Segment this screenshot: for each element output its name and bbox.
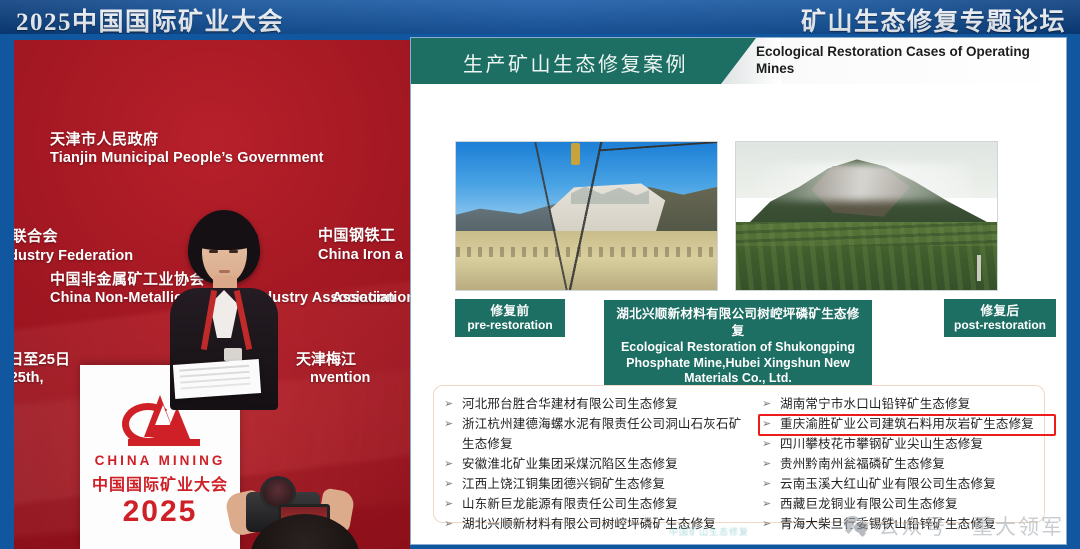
bullet-arrow-icon: ➢ [444, 395, 455, 415]
case-list-item-label: 河北邢台胜合华建材有限公司生态修复 [462, 395, 742, 415]
bullet-arrow-icon: ➢ [444, 455, 455, 475]
case-list-item-label: 云南玉溪大红山矿业有限公司生态修复 [780, 475, 1040, 495]
bullet-arrow-icon: ➢ [444, 475, 455, 495]
bullet-arrow-icon: ➢ [444, 515, 455, 535]
case-list-item-label: 重庆渝胜矿业公司建筑石料用灰岩矿生态修复 [780, 415, 1040, 435]
case-title-en-2: Phosphate Mine,Hubei Xingshun New [612, 356, 864, 372]
case-list-item[interactable]: ➢湖南常宁市水口山铅锌矿生态修复 [762, 395, 1040, 415]
case-list-item[interactable]: ➢山东新巨龙能源有限责任公司生态修复 [444, 495, 742, 515]
caption-post-cn: 修复后 [954, 304, 1046, 318]
backdrop-org4-cn: 中国钢铁工 [318, 224, 396, 245]
logo-text-english: CHINA MINING [80, 453, 240, 468]
case-list-item-label: 江西上饶江铜集团德兴铜矿生态修复 [462, 475, 742, 495]
case-list-item-label: 浙江杭州建德海螺水泥有限责任公司洞山石灰石矿生态修复 [462, 415, 742, 454]
event-title-left: 2025中国国际矿业大会 [16, 2, 284, 34]
slide-title-english: Ecological Restoration Cases of Operatin… [756, 43, 1051, 77]
slide-title-banner: 生产矿山生态修复案例 Ecological Restoration Cases … [411, 38, 1066, 84]
logo-text-year: 2025 [80, 495, 240, 529]
presentation-slide-panel[interactable]: 生产矿山生态修复案例 Ecological Restoration Cases … [411, 38, 1066, 544]
backdrop-org1-cn: 天津市人民政府 [50, 128, 159, 149]
case-list-item-label: 山东新巨龙能源有限责任公司生态修复 [462, 495, 742, 515]
case-list-box: ➢河北邢台胜合华建材有限公司生态修复➢浙江杭州建德海螺水泥有限责任公司洞山石灰石… [433, 385, 1045, 523]
backdrop-date-en: to 25th, [14, 370, 44, 386]
caption-case-title: 湖北兴顺新材料有限公司树崆坪磷矿生态修复 Ecological Restorat… [604, 300, 872, 395]
wechat-icon [844, 513, 870, 539]
case-list-item[interactable]: ➢四川攀枝花市攀钢矿业尖山生态修复 [762, 435, 1040, 455]
bullet-arrow-icon: ➢ [762, 395, 773, 415]
backdrop-org1-en: Tianjin Municipal People’s Government [50, 150, 324, 166]
case-list-item[interactable]: ➢云南玉溪大红山矿业有限公司生态修复 [762, 475, 1040, 495]
bullet-arrow-icon: ➢ [762, 435, 773, 455]
case-list-item[interactable]: ➢浙江杭州建德海螺水泥有限责任公司洞山石灰石矿生态修复 [444, 415, 742, 454]
backdrop-org2-cn: 业联合会 [14, 225, 58, 246]
case-list-item-label: 贵州黔南州瓮福磷矿生态修复 [780, 455, 1040, 475]
bullet-arrow-icon: ➢ [762, 515, 773, 535]
speaker-figure [164, 210, 284, 410]
speech-papers [173, 359, 261, 399]
backdrop-venue-en: nvention [310, 370, 370, 386]
forum-title-right: 矿山生态修复专题论坛 [801, 2, 1066, 34]
case-title-cn: 湖北兴顺新材料有限公司树崆坪磷矿生态修复 [612, 306, 864, 340]
case-list-item[interactable]: ➢江西上饶江铜集团德兴铜矿生态修复 [444, 475, 742, 495]
bullet-arrow-icon: ➢ [444, 415, 455, 435]
slide-body: 修复前 pre-restoration 修复后 post-restoration… [411, 84, 1066, 544]
case-list-item[interactable]: ➢安徽淮北矿业集团采煤沉陷区生态修复 [444, 455, 742, 475]
backdrop-venue-cn: 天津梅江 [296, 348, 356, 369]
photo-pre-restoration [455, 141, 718, 291]
backdrop-org5-en: Association [332, 290, 410, 306]
slide-footer-watermark: 中国矿山生态修复 [669, 525, 749, 538]
case-title-en-1: Ecological Restoration of Shukongping [612, 340, 864, 356]
bullet-arrow-icon: ➢ [762, 415, 773, 435]
caption-pre-en: pre-restoration [465, 318, 555, 332]
channel-watermark-text: 公众号 · 重大领军 [878, 511, 1064, 541]
bullet-arrow-icon: ➢ [444, 495, 455, 515]
caption-post-restoration: 修复后 post-restoration [944, 299, 1056, 337]
case-list-item-label: 湖南常宁市水口山铅锌矿生态修复 [780, 395, 1040, 415]
backdrop-date-cn: 3日至25日 [14, 348, 70, 369]
caption-pre-cn: 修复前 [465, 304, 555, 318]
speaker-video-panel[interactable]: 天津市人民政府 Tianjin Municipal People’s Gover… [14, 40, 410, 549]
photo-post-restoration [735, 141, 998, 291]
case-list-column-left: ➢河北邢台胜合华建材有限公司生态修复➢浙江杭州建德海螺水泥有限责任公司洞山石灰石… [444, 395, 742, 535]
case-list-item[interactable]: ➢重庆渝胜矿业公司建筑石料用灰岩矿生态修复 [762, 415, 1040, 435]
channel-watermark: 公众号 · 重大领军 [844, 511, 1064, 541]
bullet-arrow-icon: ➢ [762, 455, 773, 475]
logo-text-chinese: 中国国际矿业大会 [80, 471, 240, 495]
caption-pre-restoration: 修复前 pre-restoration [455, 299, 565, 337]
case-list-item[interactable]: ➢贵州黔南州瓮福磷矿生态修复 [762, 455, 1040, 475]
event-header-bar: 2025中国国际矿业大会 矿山生态修复专题论坛 [0, 0, 1080, 34]
slide-title-chinese: 生产矿山生态修复案例 [463, 48, 688, 77]
caption-post-en: post-restoration [954, 318, 1046, 332]
broadcast-screen: 2025中国国际矿业大会 矿山生态修复专题论坛 天津市人民政府 Tianjin … [0, 0, 1080, 549]
backdrop-org2-en: Industry Federation [14, 248, 133, 264]
case-list-item-label: 安徽淮北矿业集团采煤沉陷区生态修复 [462, 455, 742, 475]
bullet-arrow-icon: ➢ [762, 475, 773, 495]
case-list-item-label: 四川攀枝花市攀钢矿业尖山生态修复 [780, 435, 1040, 455]
speaker-badge [224, 348, 242, 361]
backdrop-org4-en: China Iron a [318, 247, 403, 263]
bullet-arrow-icon: ➢ [762, 495, 773, 515]
case-list-item[interactable]: ➢河北邢台胜合华建材有限公司生态修复 [444, 395, 742, 415]
